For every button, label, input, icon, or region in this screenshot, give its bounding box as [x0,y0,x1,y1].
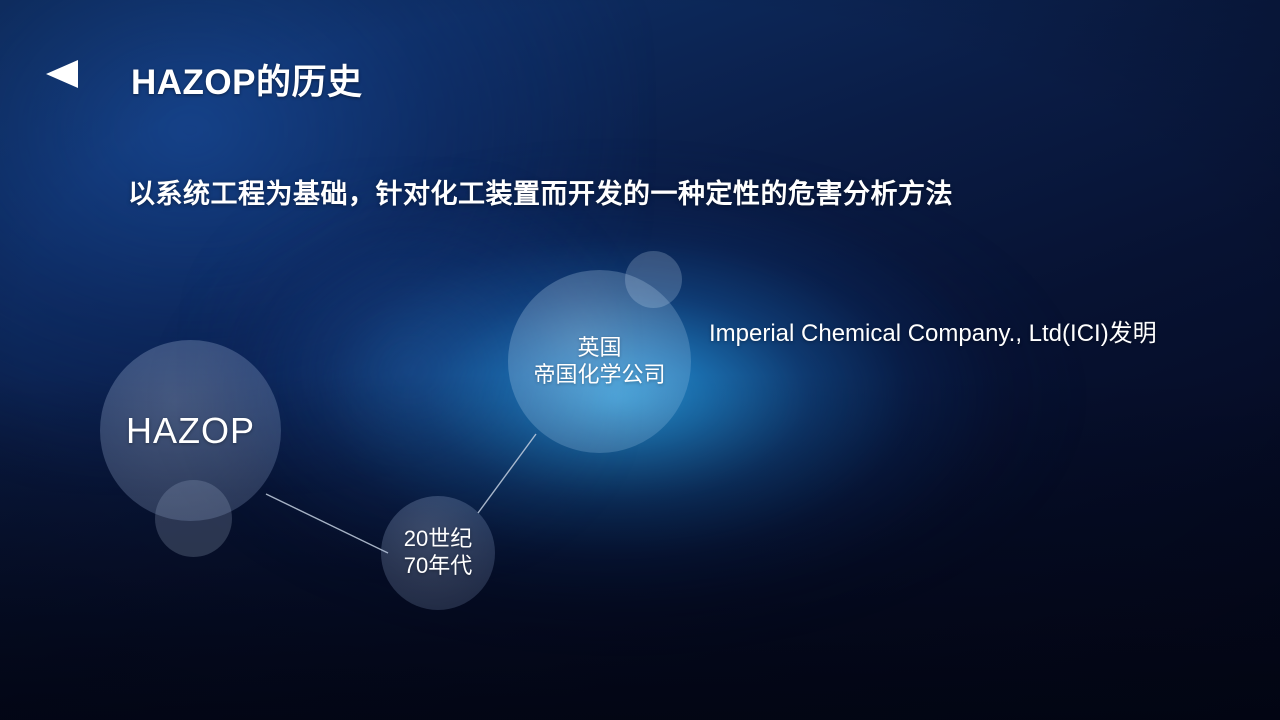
bubble-era[interactable]: 20世纪 70年代 [381,496,495,610]
bubble-ici-satellite [625,251,682,308]
slide-canvas: HAZOP的历史 以系统工程为基础，针对化工装置而开发的一种定性的危害分析方法 … [0,0,1280,720]
bubble-hazop-label: HAZOP [120,409,261,453]
connector-era-to-ici [478,434,536,513]
connector-hazop-to-era [266,494,388,553]
ici-caption: Imperial Chemical Company., Ltd(ICI)发明 [709,313,1157,348]
bubble-era-label: 20世纪 70年代 [398,526,478,580]
bubble-ici-label: 英国 帝国化学公司 [527,335,671,389]
history-diagram: HAZOP 20世纪 70年代 英国 帝国化学公司 Imperial Chemi… [0,0,1280,720]
bubble-hazop[interactable]: HAZOP [100,340,281,521]
